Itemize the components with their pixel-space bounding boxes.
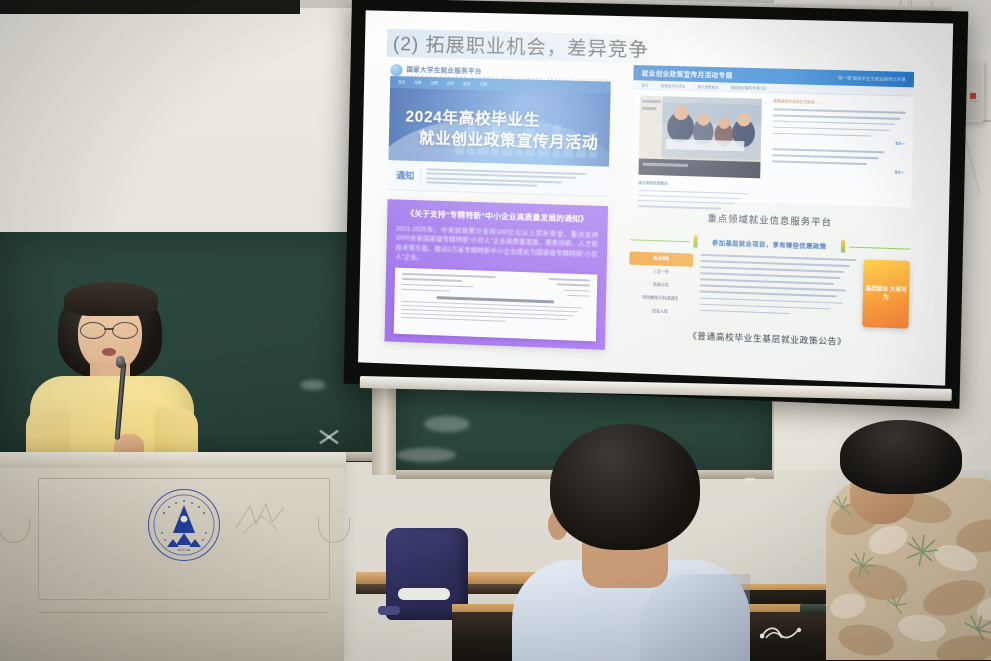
chalk-smudge-2 bbox=[424, 416, 470, 432]
notice-mark: 通知 bbox=[396, 168, 414, 182]
presenter-hair-front bbox=[64, 282, 158, 316]
green-rule-right bbox=[849, 247, 910, 250]
ceiling-beam bbox=[0, 0, 300, 14]
presenter bbox=[14, 282, 210, 472]
portal-nav-item-3[interactable]: 指导 bbox=[447, 81, 454, 86]
notice-text-lines bbox=[420, 168, 601, 189]
glasses-icon bbox=[80, 322, 138, 337]
tick-marker-right bbox=[841, 240, 845, 252]
news-photo bbox=[638, 96, 761, 179]
news-section-title: 重点推荐政策解读 bbox=[638, 181, 764, 190]
podium-top-surface bbox=[0, 452, 346, 468]
podium-scuff-mark bbox=[232, 498, 292, 538]
news-section: 重点推荐政策解读 bbox=[638, 181, 764, 211]
microphone-head bbox=[116, 356, 125, 368]
tick-marker-left bbox=[693, 235, 697, 247]
policy-promo-card: 基层就业 大有可为 bbox=[862, 259, 910, 328]
presenter-mouth bbox=[102, 348, 116, 356]
university-seal-emblem: 1914 bbox=[148, 489, 220, 561]
green-rule-left bbox=[630, 239, 690, 242]
presentation-slide: (2) 拓展职业机会，差异竞争 国家大学生就业服务平台 NATIONAL COL… bbox=[358, 10, 953, 385]
news-site-header-right: “第一课”高校毕业生就业指导公开课 bbox=[837, 75, 906, 83]
policy-highlight-box: 《关于支持“专精特新”中小企业高质量发展的通知》 2021-2025年，中央财政… bbox=[384, 199, 608, 350]
portal-nav-item-1[interactable]: 政策 bbox=[414, 80, 421, 85]
svg-text:1914: 1914 bbox=[180, 548, 188, 552]
news-tab-1[interactable]: 政策宣传月活动 bbox=[661, 82, 686, 88]
projection-screen: (2) 拓展职业机会，差异竞争 国家大学生就业服务平台 NATIONAL COL… bbox=[358, 10, 953, 385]
news-tab-0[interactable]: 首页 bbox=[641, 82, 648, 87]
policy-panel-menu[interactable]: 热点问答 三支一扶 西部计划 特岗教师计划/选调生 应征入伍 bbox=[628, 251, 693, 320]
policy-box-body: 2021-2025年，中央财政累计安排100亿元以上奖补资金，重点支持1000余… bbox=[395, 225, 598, 269]
news-right-block: 政策宣传月活动正式启动…… 更多>> 更多>> bbox=[771, 99, 906, 201]
news-more-link-1[interactable]: 更多>> bbox=[772, 138, 905, 146]
portal-nav-item-2[interactable]: 招聘 bbox=[431, 81, 438, 86]
doc-paragraph bbox=[401, 301, 589, 326]
chair-back-slot bbox=[398, 588, 450, 600]
podium-base-line bbox=[38, 612, 328, 613]
audience-right-hair bbox=[840, 420, 962, 494]
podium-right-wing-shape bbox=[318, 518, 350, 543]
news-site-title: 就业创业政策宣传月活动专题 bbox=[642, 68, 733, 79]
podium-left-wing-shape bbox=[0, 518, 30, 543]
portal-hero-banner: 2024年高校毕业生 就业创业政策宣传月活动 bbox=[388, 88, 610, 167]
globe-icon bbox=[390, 63, 402, 75]
podium-right-wing bbox=[312, 478, 352, 596]
policy-promo-card-text: 基层就业 大有可为 bbox=[863, 285, 910, 303]
earphone-cable bbox=[760, 622, 804, 640]
policy-panel: 热点问答 三支一扶 西部计划 特岗教师计划/选调生 应征入伍 基层 bbox=[628, 251, 910, 328]
podium-left-wing bbox=[0, 478, 36, 596]
news-tab-2[interactable]: 重点领域就业 bbox=[697, 83, 718, 89]
news-tab-3[interactable]: 基层就业服务专项行动 bbox=[731, 84, 766, 90]
chalk-smudge-1 bbox=[300, 380, 326, 390]
slide-right-column: 就业创业政策宣传月活动专题 “第一课”高校毕业生就业指导公开课 首页 政策宣传月… bbox=[628, 65, 914, 350]
policy-box-title: 《关于支持“专精特新”中小企业高质量发展的通知》 bbox=[396, 207, 599, 225]
policy-panel-body bbox=[699, 254, 856, 327]
news-site-body: 重点推荐政策解读 政策宣传月活动正式启动…… 更多>> 更多>> bbox=[631, 89, 914, 207]
portal-nav-item-4[interactable]: 服务 bbox=[463, 81, 470, 86]
audience-front-shirt-shading bbox=[640, 574, 750, 661]
podium-base bbox=[0, 600, 344, 661]
portal-nav-item-5[interactable]: 专题 bbox=[479, 82, 486, 87]
projection-screen-frame: (2) 拓展职业机会，差异竞争 国家大学生就业服务平台 NATIONAL COL… bbox=[344, 0, 969, 409]
news-more-link-2[interactable]: 更多>> bbox=[772, 166, 905, 174]
audience-front-hair bbox=[550, 424, 700, 550]
chalk-mark-dash bbox=[745, 478, 755, 480]
desk-phone[interactable] bbox=[800, 604, 826, 613]
news-article-title: 政策宣传月活动正式启动…… bbox=[773, 99, 906, 108]
chalk-smudge-3 bbox=[396, 448, 456, 462]
chair-arm bbox=[378, 606, 400, 615]
slide-left-column: 国家大学生就业服务平台 NATIONAL COLLEGE STUDENT EMP… bbox=[384, 63, 611, 350]
audience-member-front bbox=[520, 424, 730, 661]
emblem-graphic: 1914 bbox=[148, 489, 220, 561]
news-left-block: 重点推荐政策解读 bbox=[638, 96, 766, 197]
bottom-caption: 《普通高校毕业生基层就业政策公告》 bbox=[628, 327, 909, 350]
classroom-scene: (2) 拓展职业机会，差异竞争 国家大学生就业服务平台 NATIONAL COL… bbox=[0, 0, 991, 661]
policy-document-screenshot bbox=[394, 268, 598, 342]
policy-menu-item-4[interactable]: 应征入伍 bbox=[628, 304, 692, 320]
portal-nav-item-0[interactable]: 首页 bbox=[398, 80, 405, 85]
audience-member-right bbox=[832, 420, 991, 661]
platform-caption: 重点领域就业信息服务平台 bbox=[630, 209, 911, 231]
green-section-title: 参加基层就业项目，享有哪些优惠政策 bbox=[712, 237, 827, 250]
